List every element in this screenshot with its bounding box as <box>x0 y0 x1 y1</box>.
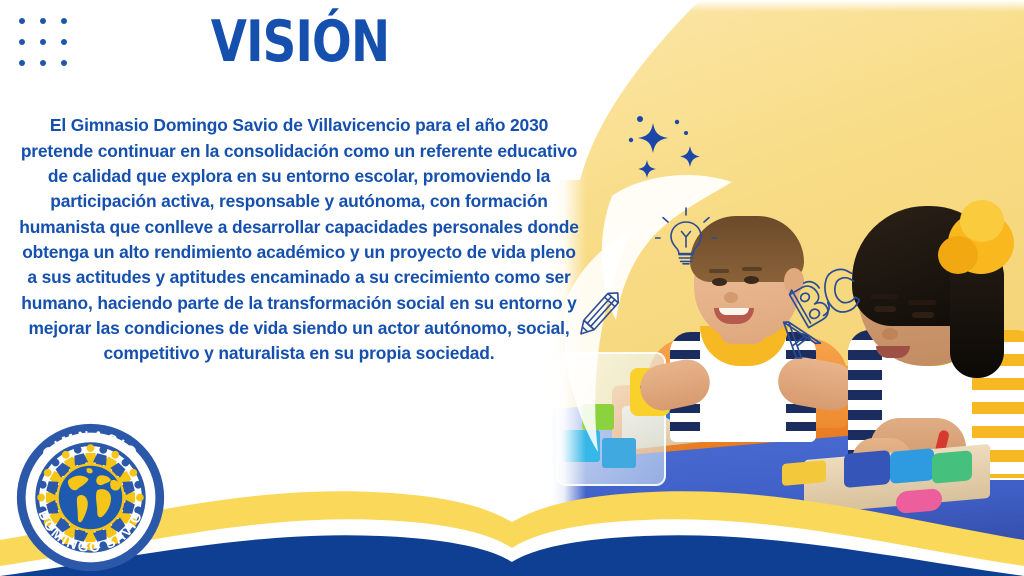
gimnasio-domingo-savio-logo: GIMNASIO DOMINGO SAVIO <box>13 420 168 575</box>
lightbulb-filament <box>682 232 691 248</box>
photo-girl-brow-left <box>870 294 898 299</box>
dot-cell <box>33 11 54 32</box>
photo-puzzle-piece-gold <box>782 460 826 486</box>
vision-poster: VISIÓN El Gimnasio Domingo Savio de Vill… <box>0 0 1024 576</box>
photo-girl-eye-right <box>912 312 934 318</box>
abc-letters-doodle <box>762 262 866 370</box>
photo-puzzle-piece-skyblue <box>890 448 934 484</box>
photo-boy-teeth <box>719 308 749 315</box>
photo-girl-eye-left <box>874 306 896 312</box>
abc-letter-a <box>774 312 820 360</box>
sparkle-large <box>638 123 668 153</box>
photo-block-blue <box>602 438 636 468</box>
photo-girl-bow-loop-a <box>960 200 1004 242</box>
sparkle-small <box>638 160 656 178</box>
photo-boy-brow-right <box>742 267 762 271</box>
page-title: VISIÓN <box>54 14 546 71</box>
sparkle-dot-c <box>684 131 688 135</box>
sparkle-cluster <box>620 104 710 188</box>
sparkle-dot-a <box>637 116 643 122</box>
vision-paragraph: El Gimnasio Domingo Savio de Villavicenc… <box>18 113 580 366</box>
dot-cell <box>12 32 33 53</box>
pencil-lead-line <box>583 327 588 331</box>
photo-puzzle-piece-navy <box>844 450 890 488</box>
photo-boy-eye-right <box>744 276 759 284</box>
dot-cell <box>33 52 54 73</box>
photo-boy-nose <box>724 292 738 303</box>
dot-cell <box>33 32 54 53</box>
photo-puzzle-piece-emerald <box>932 450 972 483</box>
photo-girl-bow-loop-b <box>938 236 978 274</box>
dot-cell <box>12 52 33 73</box>
logo-globe <box>58 465 124 531</box>
photo-boy-eye-left <box>712 278 727 286</box>
photo-girl-nose <box>882 328 898 340</box>
lightbulb-rays <box>656 208 717 238</box>
logo-svg: GIMNASIO DOMINGO SAVIO <box>13 420 168 575</box>
abc-letter-b <box>788 278 834 328</box>
pencil-doodle <box>568 286 626 346</box>
photo-girl-brow-right <box>908 300 936 305</box>
lightbulb-base <box>679 255 693 262</box>
sparkle-medium <box>680 146 700 167</box>
sparkle-dot-d <box>629 138 633 142</box>
abc-letter-c <box>820 266 861 315</box>
lightbulb-doodle <box>655 206 717 270</box>
photo-top-feather <box>552 0 1024 12</box>
sparkle-dot-b <box>675 120 679 124</box>
dot-cell <box>12 11 33 32</box>
photo-block-green <box>582 404 614 430</box>
